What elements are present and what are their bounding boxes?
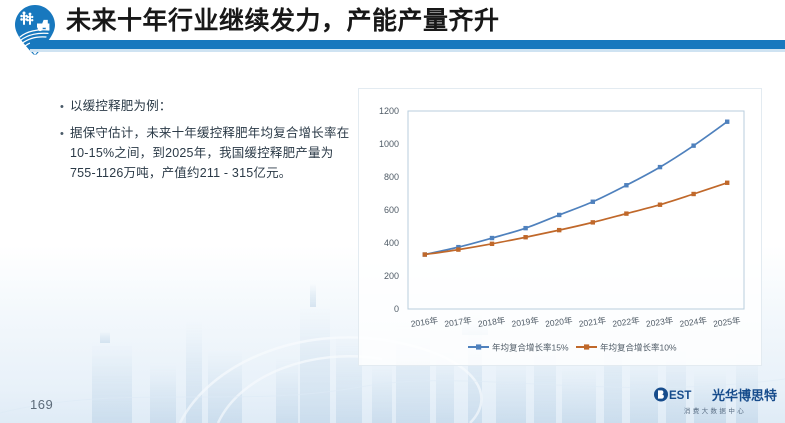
brand-name: 光华博思特 — [712, 385, 777, 404]
header-accent-bar — [30, 40, 785, 49]
data-point-marker — [456, 247, 460, 251]
data-point-marker — [591, 200, 595, 204]
data-point-marker — [591, 220, 595, 224]
data-point-marker — [557, 228, 561, 232]
x-tick-label: 2021年 — [578, 315, 607, 329]
data-series-layer — [423, 120, 730, 257]
legend-label: 年均复合增长率15% — [492, 342, 569, 352]
y-tick-label: 1000 — [379, 139, 399, 149]
data-point-marker — [557, 213, 561, 217]
data-point-marker — [523, 226, 527, 230]
data-point-marker — [658, 203, 662, 207]
slide-canvas: 未来十年行业继续发力，产能产量齐升 • 以缓控释肥为例： • 据保守估计，未来十… — [0, 0, 785, 423]
brand-logo: EST 光华博思特 消费大数据中心 — [653, 385, 777, 415]
legend-item-1[interactable]: 年均复合增长率15% — [468, 342, 569, 352]
y-tick-label: 200 — [384, 271, 399, 281]
bullet-text: 以缓控释肥为例： — [70, 96, 350, 116]
page-number: 169 — [30, 397, 53, 412]
plot-area-border — [408, 111, 744, 309]
y-tick-label: 600 — [384, 205, 399, 215]
x-axis-tick-labels: 2016年2017年2018年2019年2020年2021年2022年2023年… — [410, 315, 741, 329]
x-tick-label: 2020年 — [545, 315, 574, 329]
bullet-text: 据保守估计，未来十年缓控释肥年均复合增长率在10-15%之间，到2025年，我国… — [70, 123, 350, 183]
data-point-marker — [523, 235, 527, 239]
svg-text:EST: EST — [669, 390, 691, 402]
legend-marker-swatch — [584, 344, 589, 349]
bullet-marker-icon: • — [60, 129, 70, 139]
x-tick-label: 2025年 — [713, 315, 742, 329]
line-chart: 020040060080010001200 2016年2017年2018年201… — [359, 89, 763, 367]
header-accent-bar-shadow — [30, 49, 785, 52]
bullet-marker-icon: • — [60, 102, 70, 112]
page-title: 未来十年行业继续发力，产能产量齐升 — [66, 5, 500, 38]
series-line — [425, 122, 727, 255]
data-point-marker — [691, 143, 695, 147]
x-tick-label: 2018年 — [477, 315, 506, 329]
chart-panel: 020040060080010001200 2016年2017年2018年201… — [358, 88, 762, 366]
x-tick-label: 2023年 — [645, 315, 674, 329]
data-point-marker — [691, 192, 695, 196]
x-tick-label: 2022年 — [612, 315, 641, 329]
list-item: • 以缓控释肥为例： — [60, 96, 350, 116]
legend-marker-swatch — [476, 344, 481, 349]
y-tick-label: 0 — [394, 304, 399, 314]
legend-label: 年均复合增长率10% — [600, 342, 677, 352]
brand-subtitle: 消费大数据中心 — [684, 405, 746, 415]
slide-header: 未来十年行业继续发力，产能产量齐升 — [0, 0, 785, 58]
chart-svg: 020040060080010001200 2016年2017年2018年201… — [359, 89, 763, 367]
data-point-marker — [725, 120, 729, 124]
data-point-marker — [490, 236, 494, 240]
series-1 — [423, 120, 730, 257]
best-logo-icon: EST — [653, 387, 709, 402]
brand-row: EST 光华博思特 — [653, 385, 777, 404]
data-point-marker — [624, 211, 628, 215]
data-point-marker — [658, 165, 662, 169]
data-point-marker — [423, 252, 427, 256]
list-item: • 据保守估计，未来十年缓控释肥年均复合增长率在10-15%之间，到2025年，… — [60, 123, 350, 183]
y-tick-label: 1200 — [379, 106, 399, 116]
legend-item-2[interactable]: 年均复合增长率10% — [576, 342, 677, 352]
y-tick-label: 800 — [384, 172, 399, 182]
x-tick-label: 2019年 — [511, 315, 540, 329]
x-tick-label: 2016年 — [410, 315, 439, 329]
y-axis-tick-labels: 020040060080010001200 — [379, 106, 399, 314]
x-tick-label: 2024年 — [679, 315, 708, 329]
data-point-marker — [725, 181, 729, 185]
data-point-marker — [490, 242, 494, 246]
x-tick-label: 2017年 — [444, 315, 473, 329]
data-point-marker — [624, 183, 628, 187]
bullet-list: • 以缓控释肥为例： • 据保守估计，未来十年缓控释肥年均复合增长率在10-15… — [60, 96, 350, 190]
y-tick-label: 400 — [384, 238, 399, 248]
chart-legend: 年均复合增长率15%年均复合增长率10% — [468, 342, 677, 352]
